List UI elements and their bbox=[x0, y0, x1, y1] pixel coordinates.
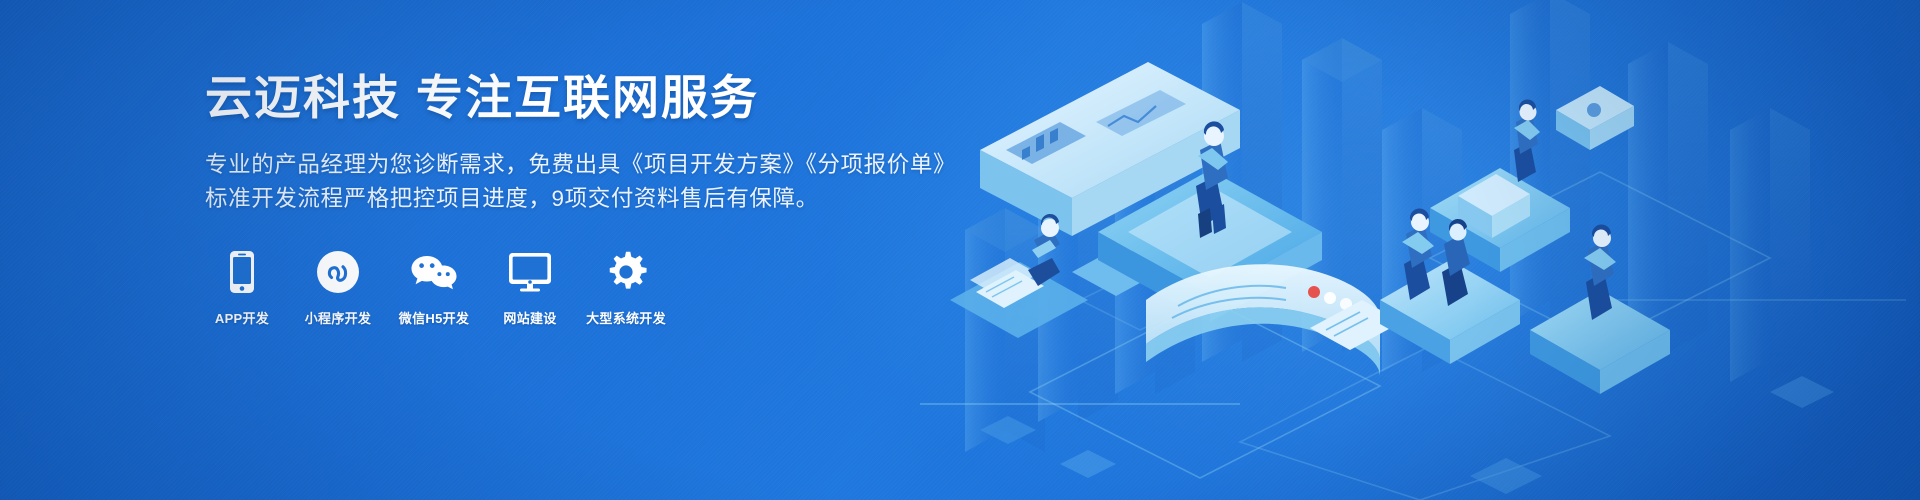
service-item-large-system[interactable]: 大型系统开发 bbox=[589, 250, 663, 327]
service-item-website[interactable]: 网站建设 bbox=[493, 250, 567, 327]
hero-banner: 云迈科技 专注互联网服务 专业的产品经理为您诊断需求，免费出具《项目开发方案》《… bbox=[0, 0, 1920, 500]
banner-title: 云迈科技 专注互联网服务 bbox=[205, 70, 1105, 125]
banner-copy: 云迈科技 专注互联网服务 专业的产品经理为您诊断需求，免费出具《项目开发方案》《… bbox=[205, 70, 1105, 327]
service-label: 微信H5开发 bbox=[399, 308, 469, 327]
service-item-wechat-h5[interactable]: 微信H5开发 bbox=[397, 250, 471, 327]
service-list: APP开发 小程序开发 bbox=[205, 250, 1105, 327]
service-item-mini-program[interactable]: 小程序开发 bbox=[301, 250, 375, 327]
service-item-app[interactable]: APP开发 bbox=[205, 250, 279, 327]
wechat-icon bbox=[410, 250, 458, 294]
mini-program-icon bbox=[317, 250, 359, 294]
service-label: 小程序开发 bbox=[305, 308, 372, 327]
banner-subtitles: 专业的产品经理为您诊断需求，免费出具《项目开发方案》《分项报价单》 标准开发流程… bbox=[205, 148, 1105, 216]
banner-subtitle-2: 标准开发流程严格把控项目进度，9项交付资料售后有保障。 bbox=[205, 182, 1105, 216]
gear-icon bbox=[605, 250, 647, 294]
monitor-icon bbox=[508, 250, 552, 294]
service-label: 大型系统开发 bbox=[586, 308, 666, 327]
service-label: 网站建设 bbox=[503, 308, 556, 327]
banner-subtitle-1: 专业的产品经理为您诊断需求，免费出具《项目开发方案》《分项报价单》 bbox=[205, 148, 1105, 182]
mobile-phone-icon bbox=[227, 250, 257, 294]
service-label: APP开发 bbox=[215, 308, 269, 327]
